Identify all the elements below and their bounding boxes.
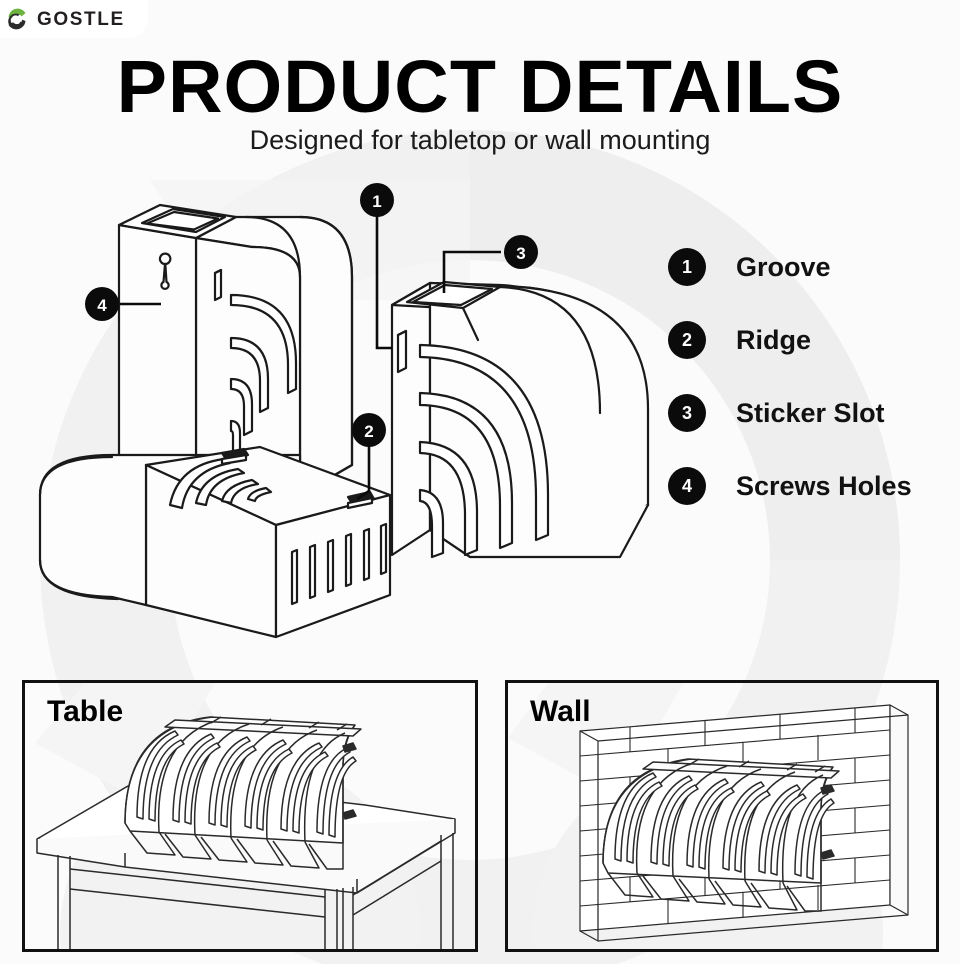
callout-3: 3: [504, 235, 538, 269]
panel-wall-mounting: Wall: [505, 680, 939, 952]
svg-text:4: 4: [97, 296, 107, 315]
legend-item-screws-holes: 4 Screws Holes: [668, 467, 958, 505]
legend-label-1: Groove: [736, 254, 831, 281]
legend-list: 1 Groove 2 Ridge 3 Sticker Slot 4 Screws…: [668, 248, 958, 540]
panel-title-wall: Wall: [530, 697, 591, 727]
brand-name: GOSTLE: [37, 10, 125, 29]
legend-badge-1: 1: [668, 248, 706, 286]
groove-slot: [398, 331, 406, 372]
page-title: PRODUCT DETAILS: [0, 50, 960, 124]
callout-4: 4: [85, 287, 119, 321]
legend-label-3: Sticker Slot: [736, 400, 885, 427]
panel-table-mounting: Table: [22, 680, 478, 952]
gostle-swoosh-icon: [4, 6, 30, 32]
svg-text:1: 1: [372, 192, 381, 211]
legend-badge-4: 4: [668, 467, 706, 505]
infographic-canvas: GOSTLE PRODUCT DETAILS Designed for tabl…: [0, 0, 960, 964]
legend-item-groove: 1 Groove: [668, 248, 958, 286]
legend-label-4: Screws Holes: [736, 473, 912, 500]
legend-badge-2: 2: [668, 321, 706, 359]
brand-logo: GOSTLE: [0, 0, 148, 38]
legend-item-ridge: 2 Ridge: [668, 321, 958, 359]
callout-2: 2: [352, 413, 386, 447]
legend-item-sticker-slot: 3 Sticker Slot: [668, 394, 958, 432]
legend-badge-3: 3: [668, 394, 706, 432]
panel-title-table: Table: [47, 697, 123, 727]
legend-label-2: Ridge: [736, 327, 811, 354]
svg-text:3: 3: [516, 244, 525, 263]
page-subtitle: Designed for tabletop or wall mounting: [0, 126, 960, 156]
svg-text:2: 2: [364, 422, 373, 441]
callout-1: 1: [360, 183, 394, 217]
